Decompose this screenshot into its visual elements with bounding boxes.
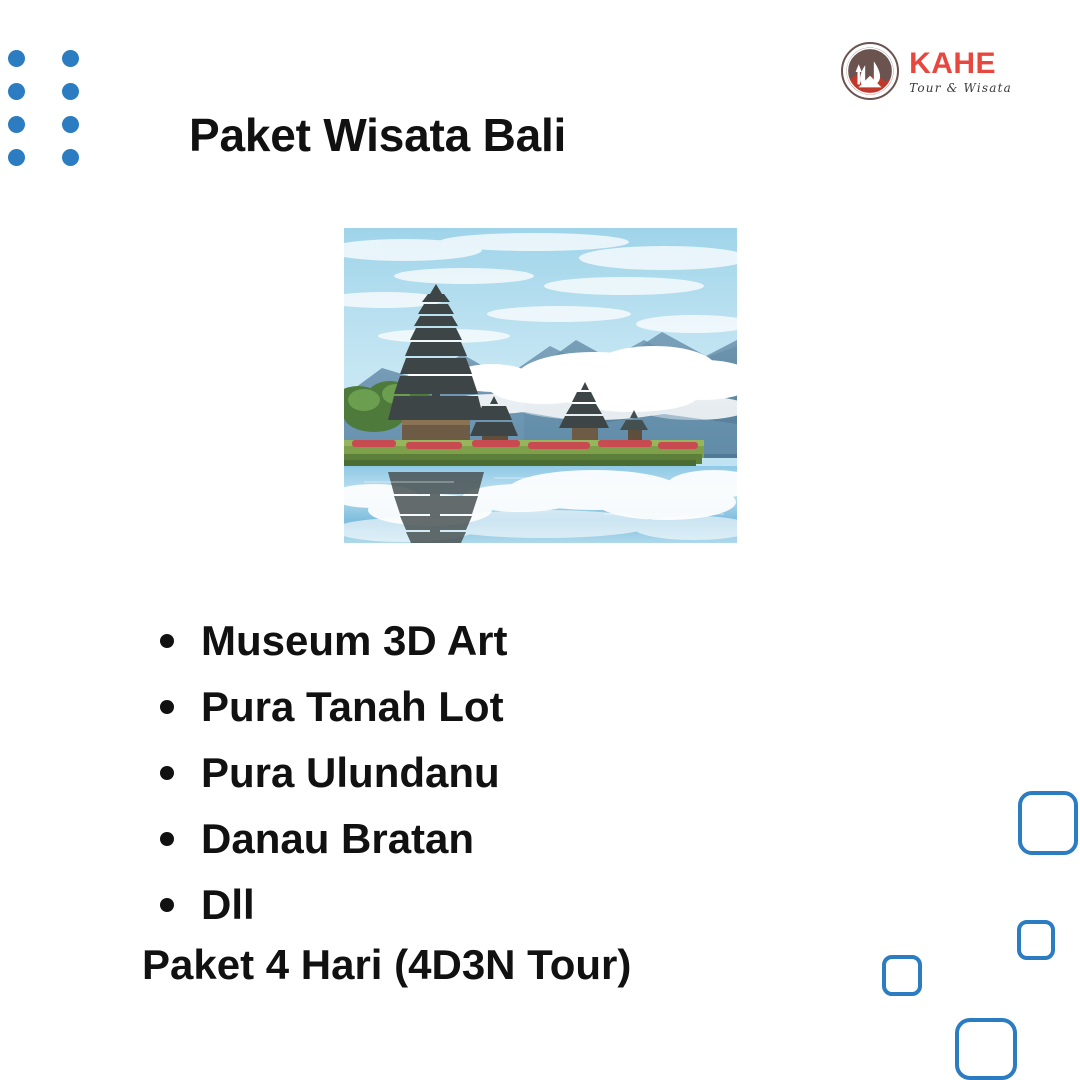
list-item: Pura Ulundanu [160,740,508,806]
list-item: Museum 3D Art [160,608,508,674]
brand-wordmark: KAHE Tour & Wisata [909,49,1012,94]
brand-tagline: Tour & Wisata [909,82,1012,94]
deco-square-small-right [1017,920,1055,960]
list-item-label: Dll [201,884,255,926]
decorative-dot-grid [8,50,116,182]
bullet-icon [160,832,174,846]
bullet-icon [160,898,174,912]
dot-marker-icon [62,116,79,133]
list-item-label: Pura Ulundanu [201,752,500,794]
deco-square-small-left [882,955,922,996]
dot-marker-icon [62,149,79,166]
list-item: Pura Tanah Lot [160,674,508,740]
deco-square-large-top [1018,791,1078,855]
page-title: Paket Wisata Bali [189,108,566,162]
dot-marker-icon [8,116,25,133]
bullet-icon [160,634,174,648]
dot-marker-icon [62,83,79,100]
mountain-forest-circle-logo-icon [841,42,899,100]
list-item-label: Pura Tanah Lot [201,686,504,728]
feature-list: Museum 3D Art Pura Tanah Lot Pura Ulunda… [160,608,508,938]
list-item-label: Museum 3D Art [201,620,508,662]
dot-marker-icon [62,50,79,67]
dot-marker-icon [8,50,25,67]
bullet-icon [160,700,174,714]
package-duration-text: Paket 4 Hari (4D3N Tour) [142,941,631,989]
bullet-icon [160,766,174,780]
deco-square-large-bottom [955,1018,1017,1080]
dot-marker-icon [8,149,25,166]
pura-ulun-danu-beratan-photo [344,228,737,543]
brand-logo: KAHE Tour & Wisata [841,42,1012,100]
dot-marker-icon [8,83,25,100]
list-item: Danau Bratan [160,806,508,872]
brand-name: KAHE [909,49,1012,79]
list-item-label: Danau Bratan [201,818,474,860]
poster-canvas: KAHE Tour & Wisata Paket Wisata Bali [0,0,1080,1080]
list-item: Dll [160,872,508,938]
